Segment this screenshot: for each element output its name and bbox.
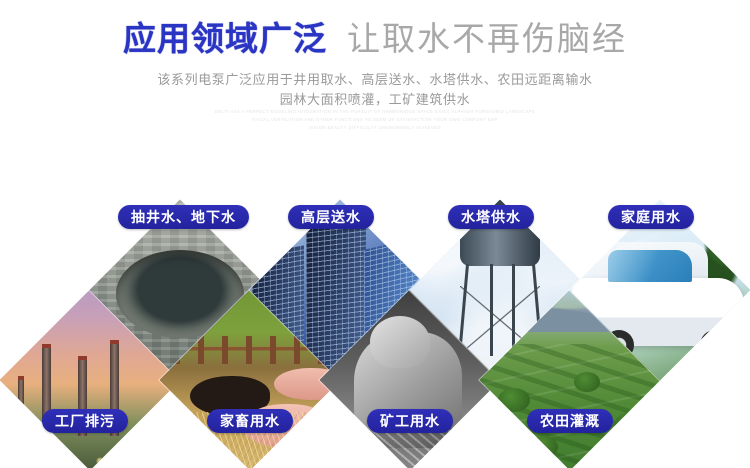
description: 该系列电泵广泛应用于井用取水、高层送水、水塔供水、农田远距离输水 园林大面积喷灌… [0, 70, 750, 110]
page-title: 应用领域广泛让取水不再伤脑经 [0, 22, 750, 55]
label-watertower[interactable]: 水塔供水 [448, 205, 534, 229]
english-line-1: DELTI HAS A PERFECT MODELING INTEGRATION… [0, 108, 750, 116]
label-miner[interactable]: 矿工用水 [367, 409, 453, 433]
label-highrise[interactable]: 高层送水 [288, 205, 374, 229]
label-well[interactable]: 抽井水、地下水 [118, 205, 249, 229]
description-line-2: 园林大面积喷灌，工矿建筑供水 [0, 90, 750, 110]
english-watermark-text: DELTI HAS A PERFECT MODELING INTEGRATION… [0, 108, 750, 132]
title-main: 应用领域广泛 [123, 20, 327, 57]
english-line-2: FACIAL VENTILATION AND OTHER FUNCTIONS T… [0, 116, 750, 124]
label-factory[interactable]: 工厂排污 [42, 409, 128, 433]
label-livestock[interactable]: 家畜用水 [207, 409, 293, 433]
label-farmland[interactable]: 农田灌溉 [527, 409, 613, 433]
title-sub: 让取水不再伤脑经 [347, 20, 627, 57]
description-line-1: 该系列电泵广泛应用于井用取水、高层送水、水塔供水、农田远距离输水 [157, 72, 592, 87]
application-fields-banner: 应用领域广泛让取水不再伤脑经 该系列电泵广泛应用于井用取水、高层送水、水塔供水、… [0, 0, 750, 468]
english-line-3: VISION BEAUTY DIFFICULTY UNKNOWINGLY ACH… [0, 124, 750, 132]
diamond-gallery: 抽井水、地下水 高层送水 水塔供水 家庭用水 工厂排污 家畜用水 矿工用水 农田… [0, 180, 750, 468]
label-household[interactable]: 家庭用水 [608, 205, 694, 229]
